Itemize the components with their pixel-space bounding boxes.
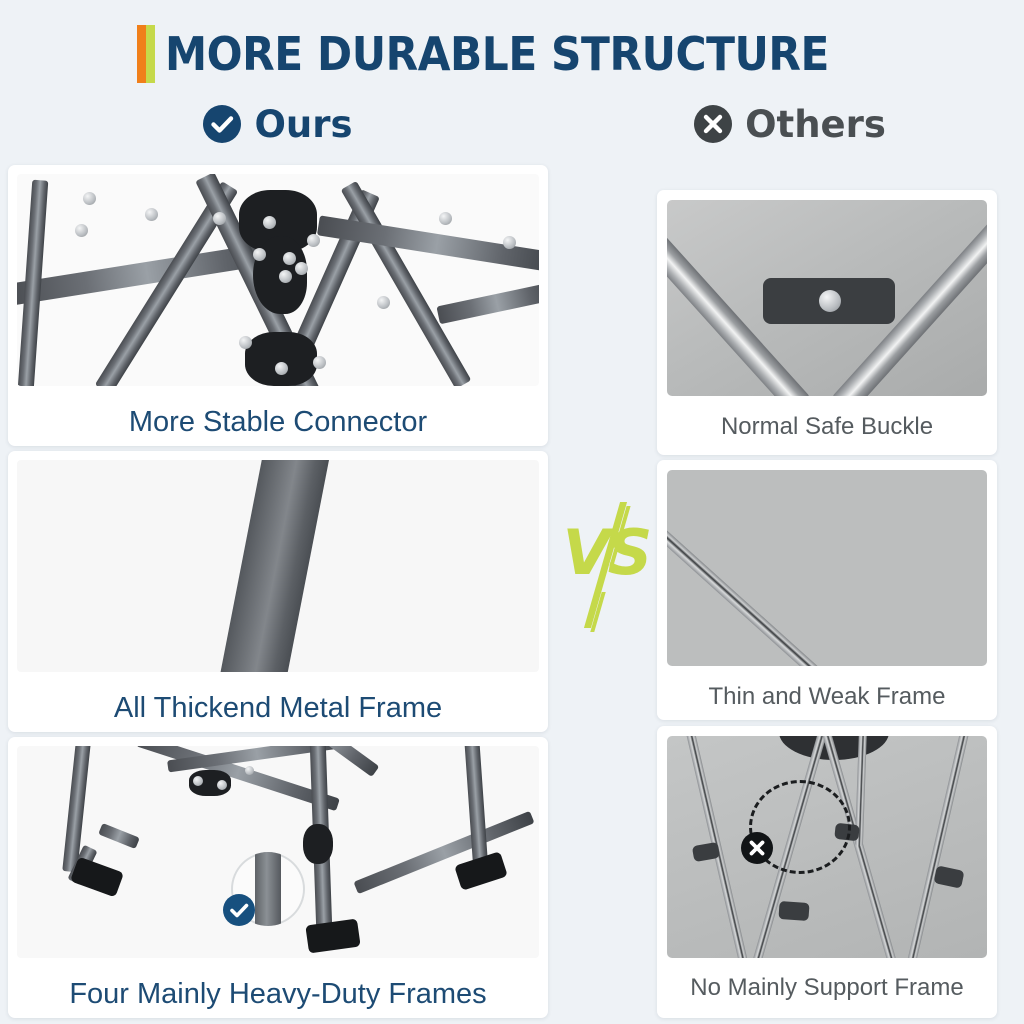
caption-others-buckle: Normal Safe Buckle	[657, 415, 997, 439]
card-ours-connector[interactable]: More Stable Connector	[8, 165, 548, 446]
check-badge-icon	[223, 894, 255, 926]
column-header-others: Others	[556, 105, 1024, 143]
photo-ours-thick-frame	[17, 460, 539, 672]
column-header-ours-label: Ours	[254, 106, 352, 143]
card-ours-heavy-duty[interactable]: Four Mainly Heavy-Duty Frames	[8, 737, 548, 1018]
cross-badge-icon	[741, 832, 773, 864]
accent-stripe-orange	[137, 25, 146, 83]
caption-others-no-support: No Mainly Support Frame	[657, 976, 997, 1000]
caption-ours-heavy-duty: Four Mainly Heavy-Duty Frames	[8, 980, 548, 1009]
column-header-ours: Ours	[0, 105, 556, 143]
photo-others-thin-frame	[667, 470, 987, 666]
page-title: MORE DURABLE STRUCTURE	[0, 18, 1024, 90]
card-ours-thick-frame[interactable]: All Thickend Metal Frame	[8, 451, 548, 732]
card-others-buckle[interactable]: Normal Safe Buckle	[657, 190, 997, 455]
accent-stripe-green	[146, 25, 155, 83]
photo-others-buckle	[667, 200, 987, 396]
x-circle-icon	[694, 105, 732, 143]
caption-others-thin-frame: Thin and Weak Frame	[657, 685, 997, 709]
caption-ours-connector: More Stable Connector	[8, 408, 548, 437]
versus-label: VS	[556, 522, 656, 584]
photo-others-no-support	[667, 736, 987, 958]
caption-ours-thick-frame: All Thickend Metal Frame	[8, 694, 548, 723]
photo-ours-heavy-duty	[17, 746, 539, 958]
versus-badge: VS	[556, 500, 656, 630]
check-circle-icon	[203, 105, 241, 143]
card-others-thin-frame[interactable]: Thin and Weak Frame	[657, 460, 997, 720]
page-title-text: MORE DURABLE STRUCTURE	[165, 31, 829, 77]
column-headers: Ours Others	[0, 105, 1024, 163]
photo-ours-connector	[17, 174, 539, 386]
card-others-no-support[interactable]: No Mainly Support Frame	[657, 726, 997, 1018]
title-accent-bar	[137, 25, 155, 83]
column-header-others-label: Others	[745, 106, 886, 143]
